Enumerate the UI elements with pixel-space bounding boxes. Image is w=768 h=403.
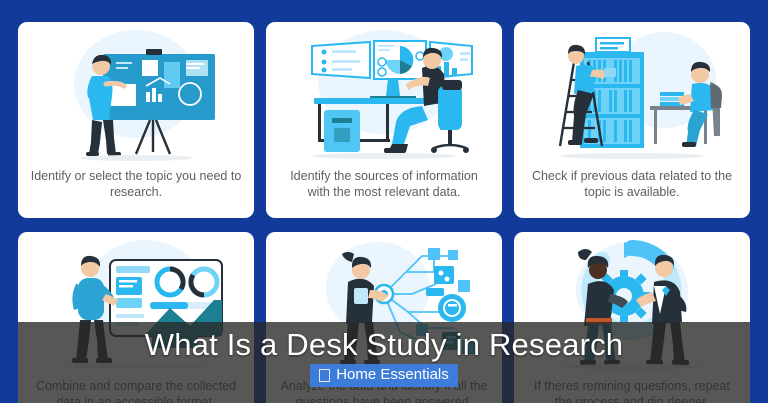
category-badge-wrap: Home Essentials [0,364,768,387]
promo-graphic: Identify or select the topic you need to… [0,0,768,403]
card-caption: Identify the sources of information with… [266,164,502,200]
category-badge[interactable]: Home Essentials [310,364,458,387]
category-badge-label: Home Essentials [336,366,449,384]
card-identify-topic[interactable]: Identify or select the topic you need to… [18,22,254,218]
page-title: What Is a Desk Study in Research [0,327,768,363]
tofu-box-icon [319,369,330,382]
illustration-library-shelf-ladder [514,22,750,164]
card-caption: Check if previous data related to the to… [514,164,750,200]
card-identify-sources[interactable]: Identify the sources of information with… [266,22,502,218]
card-caption: Identify or select the topic you need to… [18,164,254,200]
illustration-desk-three-monitors [266,22,502,164]
illustration-person-at-whiteboard [18,22,254,164]
card-check-previous-data[interactable]: Check if previous data related to the to… [514,22,750,218]
